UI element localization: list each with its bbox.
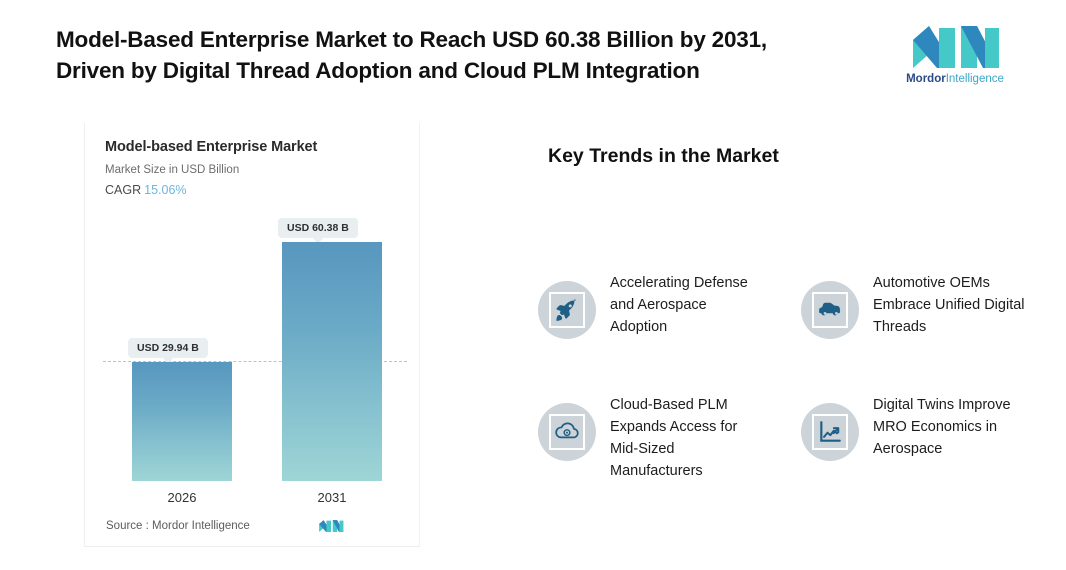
bar-value-badge-2026: USD 29.94 B <box>128 338 208 358</box>
trend-item-3[interactable]: Cloud-Based PLM Expands Access for Mid-S… <box>538 394 760 482</box>
page-title-line-2: Driven by Digital Thread Adoption and Cl… <box>56 55 896 86</box>
logo-word-mordor: Mordor <box>906 73 946 85</box>
line-chart-up-icon <box>817 419 843 445</box>
mordor-logo-mark <box>909 24 1001 70</box>
chart-plot-area: USD 29.94 B USD 60.38 B 2026 2031 <box>85 123 421 547</box>
header: Model-Based Enterprise Market to Reach U… <box>56 24 896 86</box>
bar-2031[interactable] <box>282 242 382 481</box>
icon-frame-4 <box>812 414 848 450</box>
icon-frame-3 <box>549 414 585 450</box>
trend-item-4[interactable]: Digital Twins Improve MRO Economics in A… <box>801 394 1033 461</box>
mordor-logo-mark-small <box>318 518 344 534</box>
chart-source-text: Source : Mordor Intelligence <box>106 520 250 532</box>
trend-label-1: Accelerating Defense and Aerospace Adopt… <box>610 272 760 338</box>
x-axis-label-2031: 2031 <box>282 490 382 505</box>
trend-icon-circle-4 <box>801 403 859 461</box>
mordor-intelligence-logo: MordorIntelligence <box>905 24 1005 94</box>
car-icon <box>817 297 843 323</box>
trend-icon-circle-2 <box>801 281 859 339</box>
rocket-icon <box>554 297 580 323</box>
icon-frame-1 <box>549 292 585 328</box>
trend-icon-circle-1 <box>538 281 596 339</box>
trend-item-2[interactable]: Automotive OEMs Embrace Unified Digital … <box>801 272 1033 339</box>
bar-value-badge-2031: USD 60.38 B <box>278 218 358 238</box>
trend-item-1[interactable]: Accelerating Defense and Aerospace Adopt… <box>538 272 760 339</box>
cloud-sync-icon <box>554 419 580 445</box>
bar-2026[interactable] <box>132 362 232 481</box>
mordor-logo-wordmark: MordorIntelligence <box>906 73 1004 85</box>
key-trends-heading: Key Trends in the Market <box>548 145 779 168</box>
infographic-page: Model-Based Enterprise Market to Reach U… <box>0 0 1066 570</box>
trend-label-4: Digital Twins Improve MRO Economics in A… <box>873 394 1033 460</box>
page-title: Model-Based Enterprise Market to Reach U… <box>56 24 896 86</box>
x-axis-label-2026: 2026 <box>132 490 232 505</box>
trend-icon-circle-3 <box>538 403 596 461</box>
page-title-line-1: Model-Based Enterprise Market to Reach U… <box>56 24 896 55</box>
trend-label-3: Cloud-Based PLM Expands Access for Mid-S… <box>610 394 760 482</box>
logo-word-intelligence: Intelligence <box>946 73 1004 85</box>
chart-footer: Source : Mordor Intelligence <box>85 518 421 534</box>
trend-label-2: Automotive OEMs Embrace Unified Digital … <box>873 272 1033 338</box>
icon-frame-2 <box>812 292 848 328</box>
market-size-chart-card: Model-based Enterprise Market Market Siz… <box>84 123 420 547</box>
